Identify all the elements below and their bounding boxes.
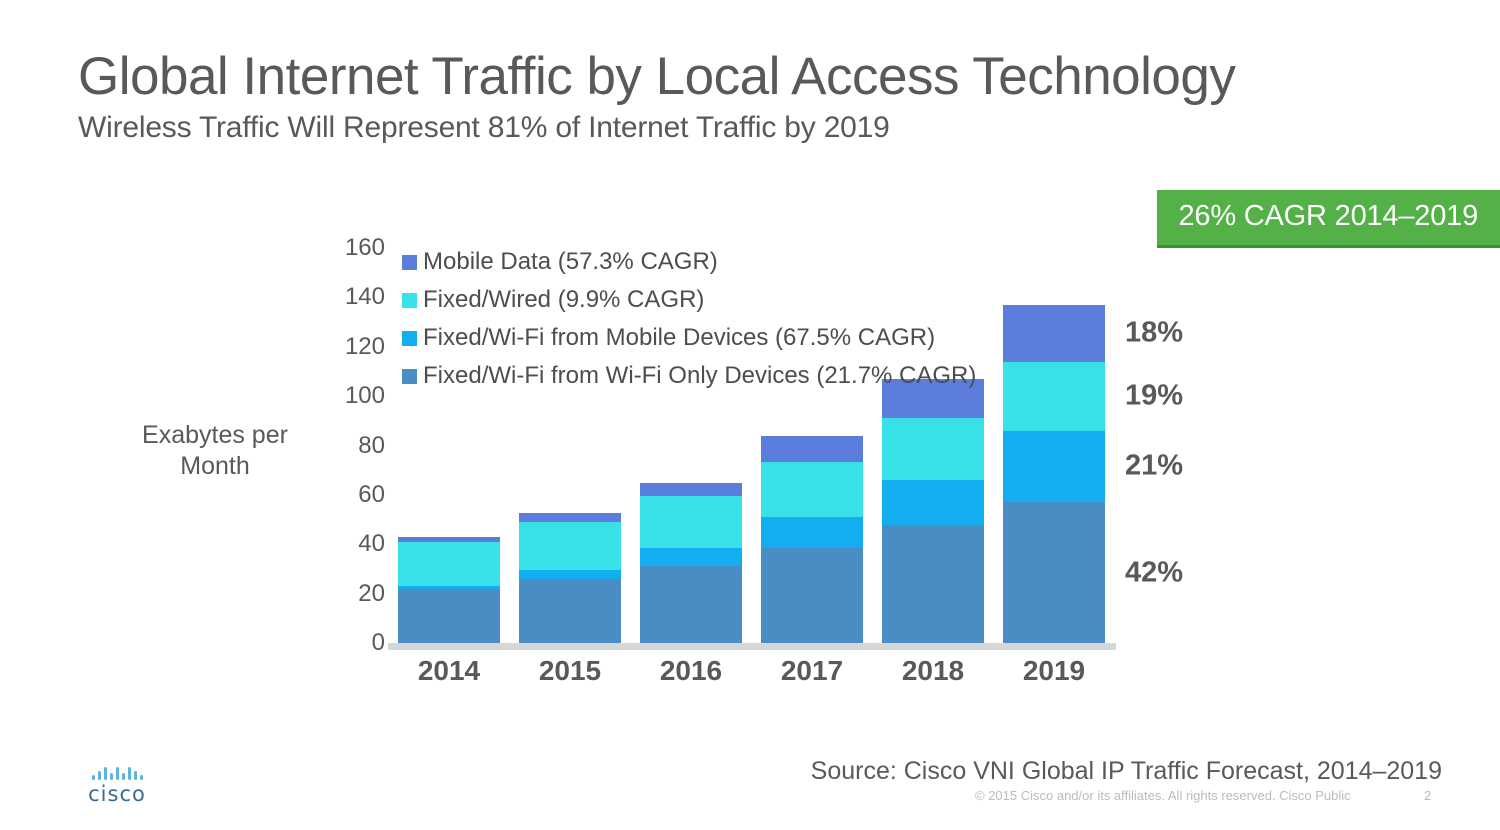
bar-segment[interactable] — [882, 418, 984, 480]
bar-segment[interactable] — [640, 548, 742, 567]
y-axis-ticks: 160140120100806040200 — [325, 0, 385, 830]
bar-column[interactable] — [761, 436, 863, 643]
y-tick-label: 0 — [325, 629, 385, 657]
bar-segment[interactable] — [519, 513, 621, 522]
source-note: Source: Cisco VNI Global IP Traffic Fore… — [811, 757, 1442, 786]
bar-segment[interactable] — [1003, 305, 1105, 362]
legend-label: Mobile Data (57.3% CAGR) — [423, 248, 718, 276]
y-tick-label: 100 — [325, 382, 385, 410]
bar-segment[interactable] — [398, 586, 500, 588]
legend-swatch-icon — [402, 293, 417, 308]
logo-bar — [104, 767, 107, 780]
logo-bar — [116, 767, 119, 780]
bar-segment[interactable] — [761, 548, 863, 643]
x-axis-baseline — [388, 643, 1116, 650]
bar-segment[interactable] — [1003, 431, 1105, 503]
legend-item[interactable]: Mobile Data (57.3% CAGR) — [402, 243, 976, 281]
y-tick-label: 40 — [325, 530, 385, 558]
bar-segment[interactable] — [519, 522, 621, 570]
cisco-wordmark: cisco — [62, 782, 172, 806]
bar-segment[interactable] — [398, 537, 500, 542]
logo-bar — [140, 775, 143, 780]
bar-segment[interactable] — [519, 579, 621, 643]
legend-label: Fixed/Wi-Fi from Wi-Fi Only Devices (21.… — [423, 362, 976, 390]
cisco-logo: cisco — [62, 762, 172, 806]
bar-column[interactable] — [882, 379, 984, 643]
slide: Global Internet Traffic by Local Access … — [0, 0, 1500, 830]
logo-bar — [134, 771, 137, 780]
percent-annotation: 19% — [1125, 380, 1183, 413]
bar-column[interactable] — [1003, 305, 1105, 643]
page-number: 2 — [1424, 788, 1431, 803]
logo-bar — [122, 773, 125, 780]
percent-annotation: 18% — [1125, 317, 1183, 350]
y-axis-title: Exabytes per Month — [110, 420, 320, 482]
bar-segment[interactable] — [640, 483, 742, 497]
bar-segment[interactable] — [882, 525, 984, 644]
logo-bar — [110, 773, 113, 780]
bar-column[interactable] — [640, 483, 742, 643]
bar-segment[interactable] — [761, 436, 863, 462]
legend-item[interactable]: Fixed/Wi-Fi from Wi-Fi Only Devices (21.… — [402, 357, 976, 395]
legend-item[interactable]: Fixed/Wi-Fi from Mobile Devices (67.5% C… — [402, 319, 976, 357]
bar-segment[interactable] — [761, 462, 863, 518]
x-axis-label: 2017 — [761, 655, 863, 687]
legend-swatch-icon — [402, 255, 417, 270]
x-axis-label: 2016 — [640, 655, 742, 687]
percent-annotation: 42% — [1125, 556, 1183, 589]
x-axis-label: 2014 — [398, 655, 500, 687]
logo-bar — [98, 771, 101, 780]
legend-label: Fixed/Wi-Fi from Mobile Devices (67.5% C… — [423, 324, 935, 352]
cisco-bridge-icon — [62, 762, 172, 780]
bar-segment[interactable] — [1003, 362, 1105, 431]
y-tick-label: 20 — [325, 580, 385, 608]
bar-segment[interactable] — [519, 570, 621, 579]
legend-item[interactable]: Fixed/Wired (9.9% CAGR) — [402, 281, 976, 319]
x-axis-label: 2015 — [519, 655, 621, 687]
chart-legend: Mobile Data (57.3% CAGR)Fixed/Wired (9.9… — [402, 243, 976, 395]
logo-bar — [128, 767, 131, 780]
bar-segment[interactable] — [640, 566, 742, 643]
y-tick-label: 140 — [325, 283, 385, 311]
bar-segment[interactable] — [640, 496, 742, 548]
legend-swatch-icon — [402, 331, 417, 346]
copyright-note: © 2015 Cisco and/or its affiliates. All … — [975, 788, 1351, 803]
legend-label: Fixed/Wired (9.9% CAGR) — [423, 286, 704, 314]
bar-column[interactable] — [519, 513, 621, 643]
bar-segment[interactable] — [398, 589, 500, 643]
bar-segment[interactable] — [398, 542, 500, 586]
bar-segment[interactable] — [1003, 502, 1105, 643]
percent-annotation: 21% — [1125, 450, 1183, 483]
y-axis-title-text: Exabytes per Month — [142, 421, 288, 480]
bar-segment[interactable] — [761, 517, 863, 548]
bar-column[interactable] — [398, 537, 500, 643]
x-axis-label: 2019 — [1003, 655, 1105, 687]
stacked-bar-chart: Exabytes per Month 160140120100806040200… — [0, 0, 1500, 830]
y-tick-label: 80 — [325, 432, 385, 460]
y-tick-label: 60 — [325, 481, 385, 509]
bar-segment[interactable] — [882, 480, 984, 524]
y-tick-label: 120 — [325, 333, 385, 361]
logo-bar — [92, 775, 95, 780]
x-axis-label: 2018 — [882, 655, 984, 687]
legend-swatch-icon — [402, 369, 417, 384]
y-tick-label: 160 — [325, 234, 385, 262]
